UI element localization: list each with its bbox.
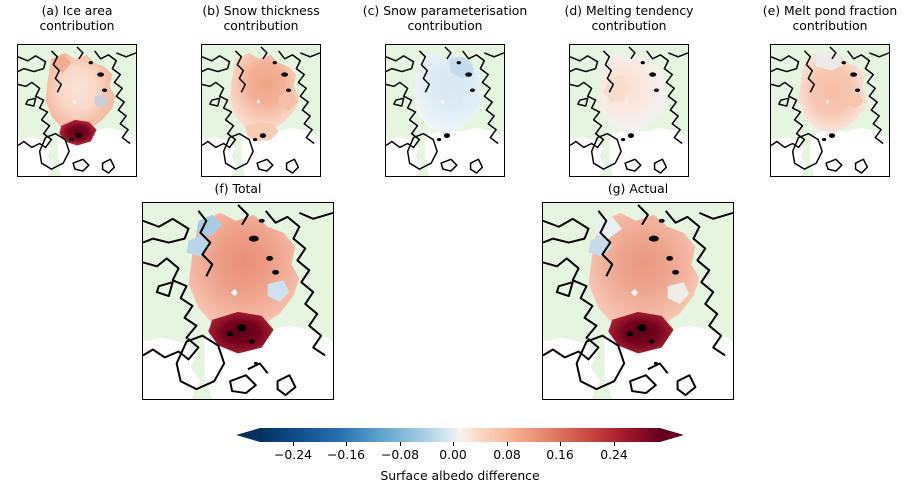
panel-f-field: [143, 203, 333, 399]
panel-c-field: [386, 45, 504, 176]
colorbar-ticklabel: −0.16: [327, 447, 365, 462]
colorbar-tick: [293, 442, 294, 446]
panel-e-title: (e) Melt pond fraction contribution: [735, 4, 917, 33]
panel-a-map: [17, 44, 137, 177]
panel-d: (d) Melting tendency contribution: [569, 4, 689, 174]
colorbar: −0.24 −0.16 −0.08 0.00 0.08 0.16 0.24 Su…: [236, 428, 684, 486]
panel-e-field: [771, 45, 889, 176]
panel-g-field: [543, 203, 733, 399]
colorbar-ticklabel: 0.08: [493, 447, 521, 462]
panel-f: (f) Total: [142, 182, 334, 400]
panel-a: (a) Ice area contribution: [17, 4, 137, 174]
panel-a-title: (a) Ice area contribution: [0, 4, 172, 33]
panel-b-field: [202, 45, 320, 176]
colorbar-tick: [507, 442, 508, 446]
panel-b-map: [201, 44, 321, 177]
panel-g-title: (g) Actual: [543, 182, 733, 197]
panel-d-field: [570, 45, 688, 176]
colorbar-tick: [346, 442, 347, 446]
colorbar-ticklabel: 0.24: [600, 447, 628, 462]
panel-g-map: [542, 202, 734, 400]
panel-c: (c) Snow parameterisation contribution: [385, 4, 505, 174]
colorbar-tick: [614, 442, 615, 446]
colorbar-axis-label: Surface albedo difference: [380, 468, 539, 483]
colorbar-ticklabel: −0.24: [274, 447, 312, 462]
panel-d-title: (d) Melting tendency contribution: [534, 4, 724, 33]
panel-d-map: [569, 44, 689, 177]
panel-e: (e) Melt pond fraction contribution: [770, 4, 890, 174]
panel-f-map: [142, 202, 334, 400]
figure-canvas: (a) Ice area contribution: [0, 0, 917, 486]
colorbar-tick: [453, 442, 454, 446]
colorbar-ticklabel: −0.08: [381, 447, 419, 462]
panel-f-title: (f) Total: [143, 182, 333, 197]
panel-c-map: [385, 44, 505, 177]
panel-g: (g) Actual: [542, 182, 734, 400]
colorbar-tick: [560, 442, 561, 446]
colorbar-ticklabel: 0.16: [546, 447, 574, 462]
colorbar-ticks: [236, 442, 684, 446]
panel-e-map: [770, 44, 890, 177]
panel-a-field: [18, 45, 136, 176]
panel-b: (b) Snow thickness contribution: [201, 4, 321, 174]
colorbar-ticklabel: 0.00: [439, 447, 467, 462]
colorbar-gradient: [236, 428, 684, 442]
colorbar-tick: [400, 442, 401, 446]
panel-c-title: (c) Snow parameterisation contribution: [325, 4, 565, 33]
